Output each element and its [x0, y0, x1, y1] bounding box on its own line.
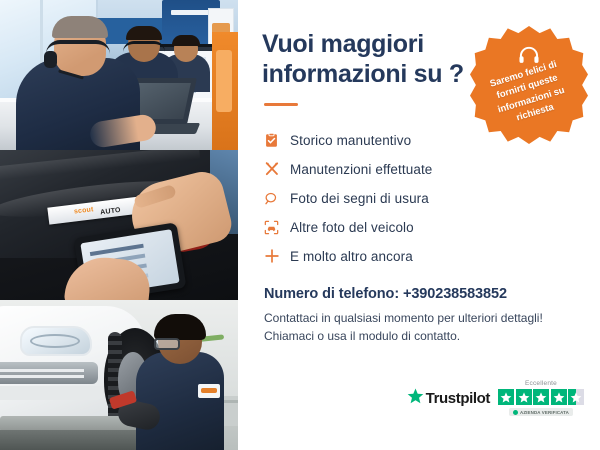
content-panel: Vuoi maggiori informazioni su ? Saremo f…	[238, 0, 600, 450]
uniform-logo-badge	[198, 384, 220, 398]
trustpilot-logo: Trustpilot	[407, 380, 490, 409]
orange-shelf	[212, 32, 238, 150]
tools-cross-icon	[264, 161, 290, 177]
trustpilot-rating: Eccellente	[498, 380, 584, 416]
agent-headset-earcup	[44, 51, 57, 68]
feature-list: Storico manutentivo Manutenzioni effettu…	[264, 126, 578, 270]
car-headlight	[20, 326, 92, 356]
feature-label: Manutenzioni effettuate	[290, 162, 432, 177]
car-grille	[0, 362, 98, 384]
star-filled-3	[533, 389, 549, 405]
star-half-5	[568, 389, 584, 405]
advertisement-banner: AUTOscout	[0, 0, 600, 450]
feature-label: E molto altro ancora	[290, 249, 413, 264]
mechanic-hair	[154, 314, 206, 340]
contact-line-2: Chiamaci o usa il modulo di contatto.	[264, 327, 578, 345]
feature-item-foto-segni-usura[interactable]: Foto dei segni di usura	[264, 184, 578, 212]
feature-item-altre-foto-veicolo[interactable]: Altre foto del veicolo	[264, 213, 578, 241]
feature-label: Altre foto del veicolo	[290, 220, 414, 235]
trustpilot-stars	[498, 389, 584, 405]
title-divider	[264, 103, 298, 106]
feature-item-manutenzioni-effettuate[interactable]: Manutenzioni effettuate	[264, 155, 578, 183]
mechanic	[132, 312, 224, 450]
feature-label: Foto dei segni di usura	[290, 191, 429, 206]
mechanic-safety-glasses	[154, 338, 180, 350]
trustpilot-rating-label: Eccellente	[525, 380, 557, 387]
car-lower-skirt	[0, 386, 104, 400]
call-center-agents-photo	[0, 0, 238, 150]
trustpilot-wordmark: Trustpilot	[426, 390, 490, 407]
photo-column: AUTOscout	[0, 0, 238, 450]
star-filled-2	[516, 389, 532, 405]
sticker-label: AUTOscout	[74, 206, 94, 215]
contact-text: Contattaci in qualsiasi momento per ulte…	[264, 309, 578, 345]
feature-item-molto-altro[interactable]: E molto altro ancora	[264, 242, 578, 270]
car-inspection-photo: AUTOscout	[0, 150, 238, 300]
agent-hair	[52, 16, 108, 38]
phone-number[interactable]: Numero di telefono: +390238583852	[264, 286, 578, 302]
verified-label: AZIENDA VERIFICATA	[520, 410, 569, 415]
feature-label: Storico manutentivo	[290, 133, 411, 148]
star-filled-1	[498, 389, 514, 405]
trustpilot-star-icon	[407, 388, 424, 409]
plus-icon	[264, 248, 290, 264]
scan-car-icon	[264, 220, 290, 235]
verified-check-icon	[513, 410, 518, 415]
mechanic-wheel-photo	[0, 300, 238, 450]
mechanic-torso	[136, 352, 224, 450]
headline-line-1: Vuoi maggiori	[262, 30, 424, 58]
clipboard-check-icon	[264, 133, 290, 148]
trustpilot-widget[interactable]: Trustpilot Eccellente	[407, 380, 584, 416]
page-title: Vuoi maggiori informazioni su ?	[262, 30, 477, 89]
headline-line-2: informazioni su ?	[262, 60, 464, 88]
contact-line-1: Contattaci in qualsiasi momento per ulte…	[264, 309, 578, 327]
foreground-agent	[16, 18, 140, 150]
star-filled-4	[551, 389, 567, 405]
callout-badge: Saremo felici di fornirti queste informa…	[470, 26, 588, 144]
magnifier-icon	[264, 191, 290, 206]
verified-business-badge: AZIENDA VERIFICATA	[509, 408, 573, 416]
